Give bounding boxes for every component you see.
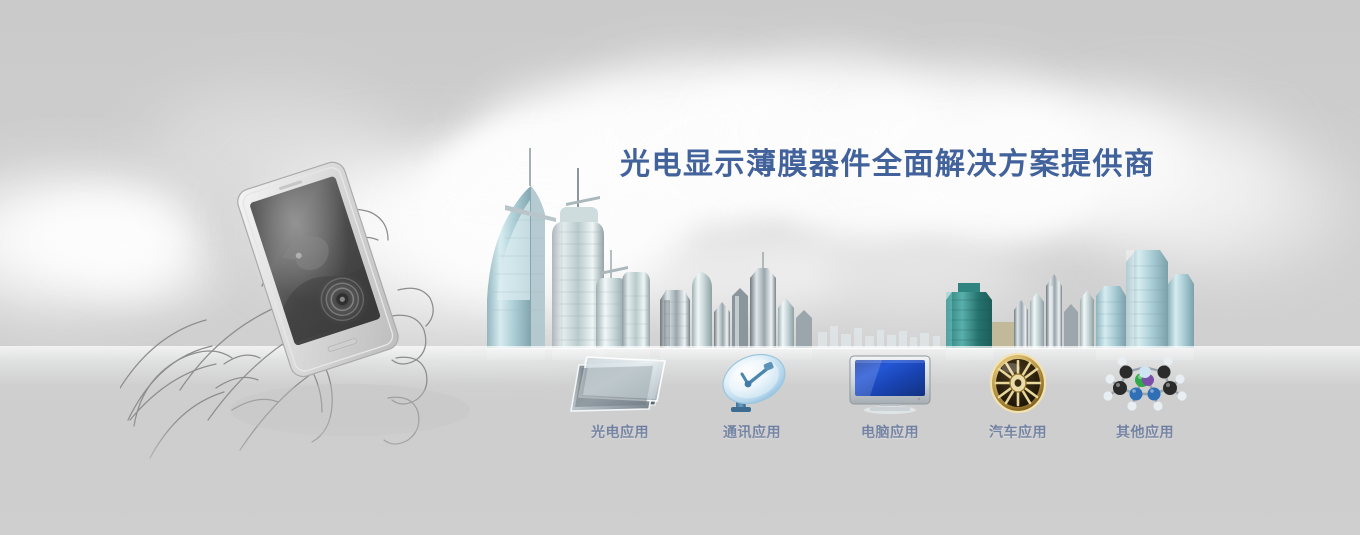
bottom-fade [0, 415, 1360, 535]
molecule-model-icon [1085, 352, 1205, 414]
satellite-dish-icon [692, 352, 812, 414]
glass-film-panels-icon [560, 352, 680, 414]
page-title: 光电显示薄膜器件全面解决方案提供商 [620, 139, 1156, 183]
horizon-line [440, 348, 1200, 349]
lcd-monitor-icon [830, 352, 950, 414]
promo-banner: 光电显示薄膜器件全面解决方案提供商 [0, 0, 1360, 535]
car-wheel-rim-icon [958, 352, 1078, 414]
